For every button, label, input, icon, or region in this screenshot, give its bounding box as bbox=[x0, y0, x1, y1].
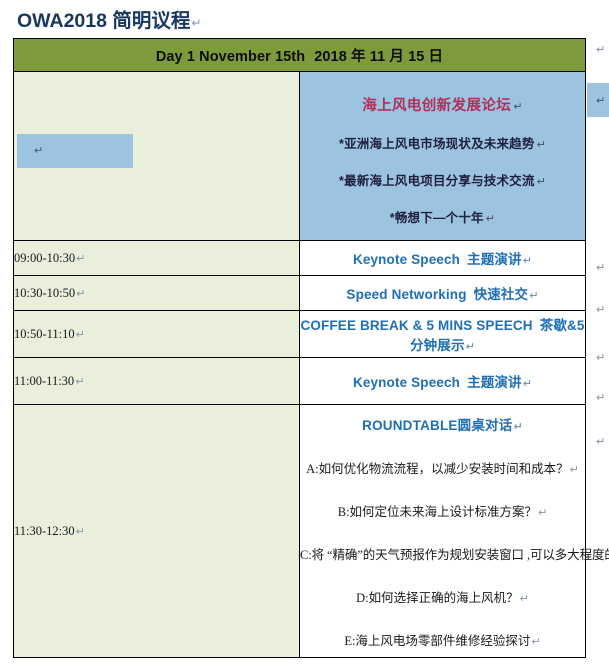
text-selection-highlight[interactable]: ↵ bbox=[17, 134, 133, 168]
pilcrow-icon: ↵ bbox=[466, 340, 475, 353]
pilcrow-icon: ↵ bbox=[596, 262, 605, 273]
pilcrow-icon: ↵ bbox=[75, 375, 84, 388]
session-title-cell[interactable]: COFFEE BREAK & 5 MINS SPEECH茶歇&5 分钟展示↵ bbox=[300, 311, 586, 358]
forum-bullet-text: *亚洲海上风电市场现状及未来趋势 bbox=[339, 137, 535, 151]
pilcrow-icon: ↵ bbox=[529, 289, 538, 302]
pilcrow-icon: ↵ bbox=[538, 506, 547, 519]
pilcrow-icon: ↵ bbox=[520, 592, 529, 605]
session-time-cell[interactable]: 10:30-10:50↵ bbox=[14, 276, 300, 311]
roundtable-item-text: B:如何定位未来海上设计标准方案？ bbox=[338, 505, 537, 519]
pilcrow-icon: ↵ bbox=[191, 16, 201, 30]
table-row: 11:00-11:30↵ Keynote Speech主题演讲↵ bbox=[14, 358, 586, 405]
page-title: OWA2018 简明议程 ↵ bbox=[17, 4, 201, 34]
pilcrow-icon: ↵ bbox=[513, 420, 522, 433]
forum-bullet-text: *畅想下—个十年 bbox=[390, 211, 484, 225]
roundtable-title-en: ROUNDTABLE bbox=[362, 418, 458, 433]
text-selection-highlight-margin[interactable]: ↵ bbox=[587, 83, 609, 117]
agenda-table: Day 1 November 15th2018 年 11 月 15 日 ↵ 海上… bbox=[13, 38, 586, 658]
session-time-text: 10:30-10:50 bbox=[14, 286, 75, 300]
session-time-text: 09:00-10:30 bbox=[14, 251, 75, 265]
roundtable-item: C:将 “精确”的天气预报作为规划安装窗口 ,可以多大程度的降低风险？↵ bbox=[300, 544, 585, 563]
pilcrow-icon: ↵ bbox=[596, 392, 605, 403]
page-title-text: OWA2018 简明议程 bbox=[17, 4, 190, 33]
forum-time-cell[interactable]: ↵ bbox=[14, 72, 300, 241]
roundtable-time-cell[interactable]: 11:30-12:30↵ bbox=[14, 405, 300, 658]
roundtable-item-text: D:如何选择正确的海上风机？ bbox=[356, 591, 519, 605]
session-time-text: 10:50-11:10 bbox=[14, 327, 75, 341]
table-row: 09:00-10:30↵ Keynote Speech主题演讲↵ bbox=[14, 241, 586, 276]
pilcrow-icon: ↵ bbox=[570, 463, 579, 476]
session-title-en: Speed Networking bbox=[346, 287, 466, 302]
session-time-cell[interactable]: 09:00-10:30↵ bbox=[14, 241, 300, 276]
day-header-label-en: Day 1 November 15th bbox=[156, 49, 305, 65]
roundtable-item: B:如何定位未来海上设计标准方案？↵ bbox=[300, 501, 585, 520]
pilcrow-icon: ↵ bbox=[523, 377, 532, 390]
pilcrow-icon: ↵ bbox=[76, 525, 85, 538]
table-row-forum: ↵ 海上风电创新发展论坛↵ *亚洲海上风电市场现状及未来趋势↵ *最新海上风电项… bbox=[14, 72, 586, 241]
roundtable-item: D:如何选择正确的海上风机？↵ bbox=[300, 587, 585, 606]
pilcrow-icon: ↵ bbox=[537, 175, 546, 188]
pilcrow-icon: ↵ bbox=[596, 44, 605, 55]
forum-title-text: 海上风电创新发展论坛 bbox=[362, 98, 511, 114]
pilcrow-icon: ↵ bbox=[596, 304, 605, 315]
roundtable-title: ROUNDTABLE圆桌对话↵ bbox=[300, 414, 585, 434]
roundtable-item-text: E:海上风电场零部件维修经验探讨 bbox=[344, 634, 530, 648]
session-title-en: Keynote Speech bbox=[353, 375, 460, 390]
pilcrow-icon: ↵ bbox=[596, 94, 605, 107]
session-title-en: Keynote Speech bbox=[353, 252, 460, 267]
pilcrow-icon: ↵ bbox=[486, 212, 495, 225]
session-title-cell[interactable]: Keynote Speech主题演讲↵ bbox=[300, 358, 586, 405]
roundtable-item: E:海上风电场零部件维修经验探讨↵ bbox=[300, 630, 585, 649]
roundtable-item-text: A:如何优化物流流程，以减少安装时间和成本？ bbox=[306, 462, 569, 476]
session-title-cell[interactable]: Keynote Speech主题演讲↵ bbox=[300, 241, 586, 276]
document-page: OWA2018 简明议程 ↵ Day 1 November 15th2018 年… bbox=[0, 0, 609, 670]
session-time-cell[interactable]: 10:50-11:10↵ bbox=[14, 311, 300, 358]
table-row-roundtable: 11:30-12:30↵ ROUNDTABLE圆桌对话↵ A:如何优化物流流程，… bbox=[14, 405, 586, 658]
pilcrow-icon: ↵ bbox=[523, 254, 532, 267]
roundtable-title-cn: 圆桌对话 bbox=[458, 418, 513, 433]
session-title-cell[interactable]: Speed Networking快速社交↵ bbox=[300, 276, 586, 311]
session-time-cell[interactable]: 11:00-11:30↵ bbox=[14, 358, 300, 405]
session-title-cn: 主题演讲 bbox=[467, 375, 522, 390]
pilcrow-icon: ↵ bbox=[531, 635, 540, 648]
forum-bullet-text: *最新海上风电项目分享与技术交流 bbox=[339, 174, 535, 188]
table-row: 10:50-11:10↵ COFFEE BREAK & 5 MINS SPEEC… bbox=[14, 311, 586, 358]
forum-content-cell[interactable]: 海上风电创新发展论坛↵ *亚洲海上风电市场现状及未来趋势↵ *最新海上风电项目分… bbox=[300, 72, 586, 241]
session-title-cn: 主题演讲 bbox=[467, 252, 522, 267]
pilcrow-icon: ↵ bbox=[596, 352, 605, 363]
roundtable-item: A:如何优化物流流程，以减少安装时间和成本？↵ bbox=[300, 458, 585, 477]
forum-bullet: *畅想下—个十年↵ bbox=[300, 207, 585, 226]
session-title-en: COFFEE BREAK & 5 MINS SPEECH bbox=[300, 318, 532, 333]
forum-title: 海上风电创新发展论坛↵ bbox=[300, 94, 585, 115]
pilcrow-icon: ↵ bbox=[76, 252, 85, 265]
forum-bullet: *亚洲海上风电市场现状及未来趋势↵ bbox=[300, 133, 585, 152]
session-title-cn: 快速社交 bbox=[474, 287, 529, 302]
pilcrow-icon: ↵ bbox=[537, 138, 546, 151]
roundtable-content-cell[interactable]: ROUNDTABLE圆桌对话↵ A:如何优化物流流程，以减少安装时间和成本？↵ … bbox=[300, 405, 586, 658]
table-row-day-header: Day 1 November 15th2018 年 11 月 15 日 bbox=[14, 39, 586, 72]
roundtable-time-text: 11:30-12:30 bbox=[14, 524, 75, 538]
table-row: 10:30-10:50↵ Speed Networking快速社交↵ bbox=[14, 276, 586, 311]
pilcrow-icon: ↵ bbox=[34, 144, 43, 157]
pilcrow-icon: ↵ bbox=[513, 100, 523, 113]
pilcrow-icon: ↵ bbox=[76, 328, 85, 341]
day-header-label-cn: 2018 年 11 月 15 日 bbox=[314, 49, 443, 65]
pilcrow-icon: ↵ bbox=[76, 287, 85, 300]
session-time-text: 11:00-11:30 bbox=[14, 374, 74, 388]
pilcrow-icon: ↵ bbox=[596, 436, 605, 447]
forum-bullet: *最新海上风电项目分享与技术交流↵ bbox=[300, 170, 585, 189]
day-header-cell[interactable]: Day 1 November 15th2018 年 11 月 15 日 bbox=[14, 39, 586, 72]
roundtable-item-text: C:将 “精确”的天气预报作为规划安装窗口 ,可以多大程度的降低风险？ bbox=[300, 548, 609, 562]
